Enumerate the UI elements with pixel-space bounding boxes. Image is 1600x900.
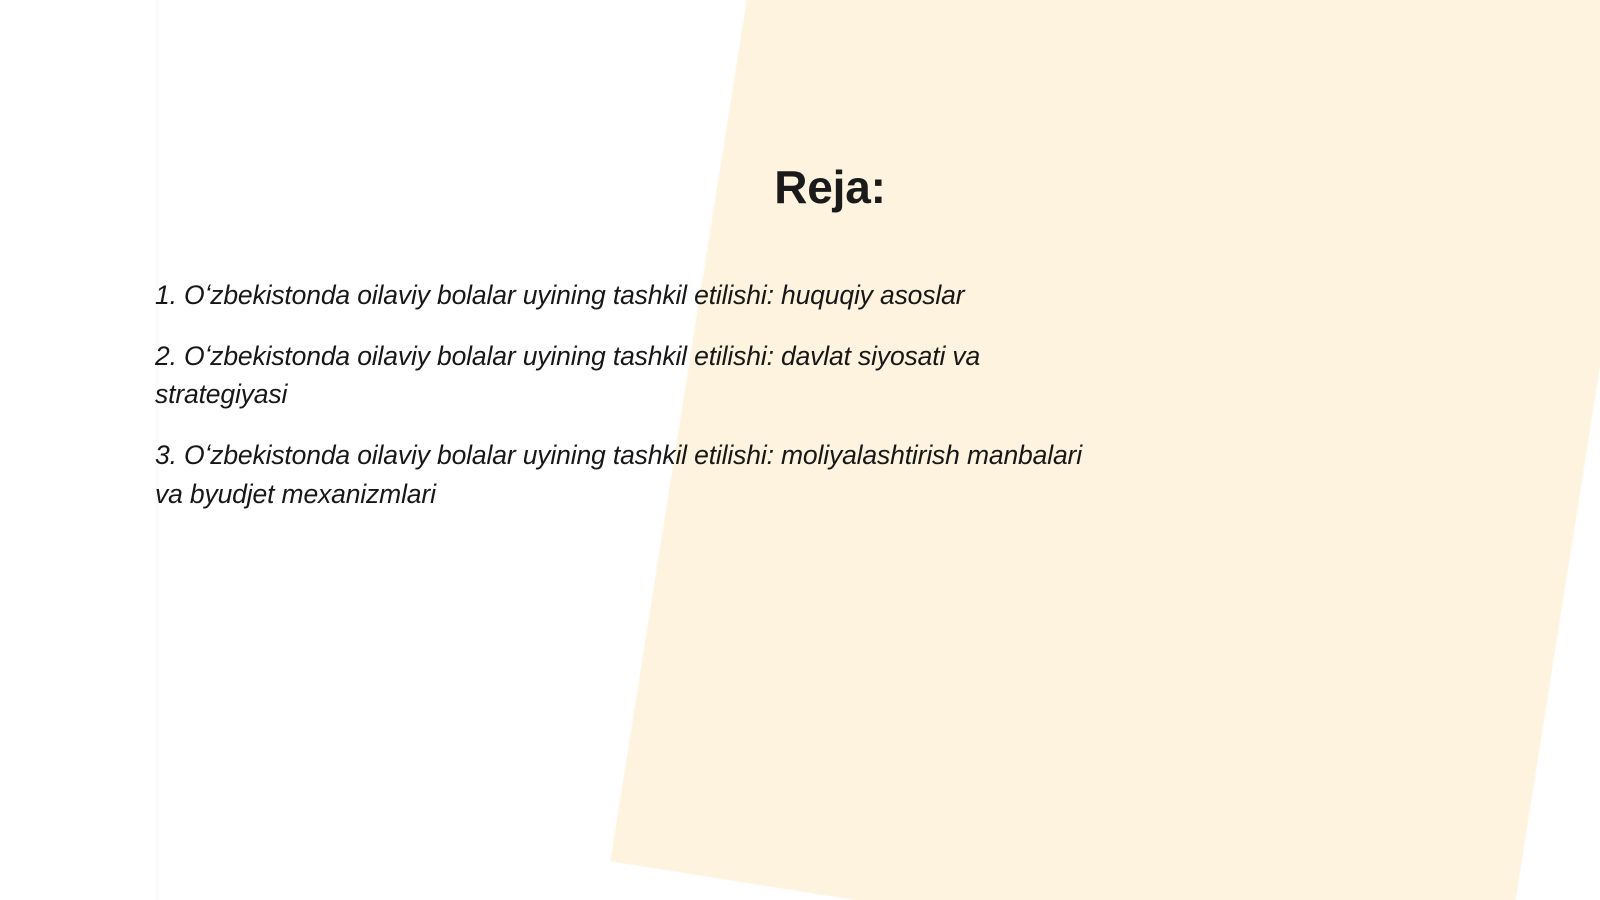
plan-list-item-1: 1. Oʻzbekistonda oilaviy bolalar uyining…: [155, 276, 1085, 315]
slide-title: Reja:: [0, 161, 1600, 214]
plan-list-item-3: 3. Oʻzbekistonda oilaviy bolalar uyining…: [155, 436, 1085, 513]
plan-list: 1. Oʻzbekistonda oilaviy bolalar uyining…: [155, 276, 1085, 513]
presentation-slide: Reja: 1. Oʻzbekistonda oilaviy bolalar u…: [0, 0, 1600, 900]
slide-content: Reja: 1. Oʻzbekistonda oilaviy bolalar u…: [0, 0, 1600, 900]
plan-list-item-2: 2. Oʻzbekistonda oilaviy bolalar uyining…: [155, 337, 1085, 414]
